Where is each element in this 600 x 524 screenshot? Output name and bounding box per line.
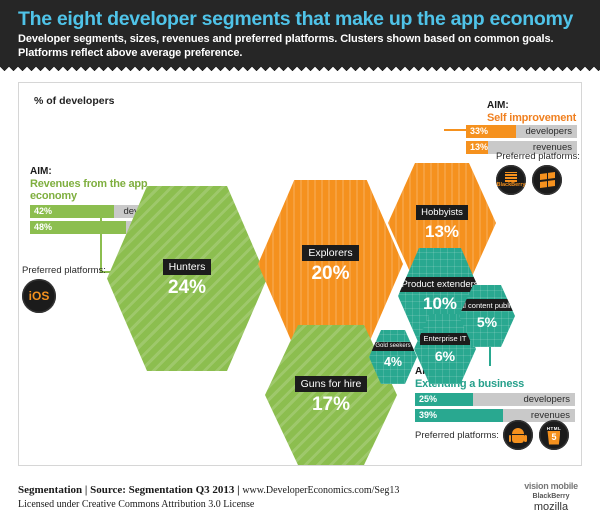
footer: Segmentation | Source: Segmentation Q3 2…: [18, 484, 538, 510]
zigzag-divider: [0, 64, 600, 73]
preferred-platforms-label: Preferred platforms:: [496, 151, 580, 162]
aim-bars-self-improvement: 33% developers 13% revenues: [466, 122, 577, 154]
header-banner: The eight developer segments that make u…: [0, 0, 600, 72]
bar-value: 25%: [419, 394, 437, 404]
footer-logos: vision mobile BlackBerry mozilla: [516, 482, 586, 513]
segment-label: Hobbyists: [416, 205, 468, 220]
footer-license: Licensed under Creative Commons Attribut…: [18, 499, 538, 510]
blackberry-icon-label: BlackBerry: [496, 183, 525, 189]
android-icon[interactable]: [503, 420, 533, 450]
segment-label: Gold seekers: [372, 342, 413, 352]
bar-label: developers: [526, 126, 572, 137]
preferred-platforms-extending-business: Preferred platforms: HTML 5: [415, 420, 569, 450]
bar-value: 42%: [34, 206, 52, 216]
platform-badge-list: BlackBerry: [496, 165, 580, 195]
segment-label: Explorers: [302, 245, 358, 261]
ios-icon[interactable]: iOS: [22, 279, 56, 313]
segment-label: Guns for hire: [295, 376, 368, 392]
segment-label: Product extenders: [396, 277, 483, 292]
connector-line-vertical: [489, 344, 491, 366]
segment-value: 10%: [423, 294, 457, 314]
footer-source-line: Segmentation | Source: Segmentation Q3 2…: [18, 484, 538, 496]
aim-block-self-improvement: AIM: Self improvement: [487, 100, 587, 124]
stat-bar-developers: 33% developers: [466, 125, 577, 138]
bar-value: 39%: [419, 410, 437, 420]
ios-icon-label: iOS: [29, 290, 50, 302]
bar-value: 33%: [470, 126, 488, 136]
segment-value: 5%: [477, 312, 497, 332]
connector-line-horizontal: [444, 129, 466, 131]
windows-icon[interactable]: [532, 165, 562, 195]
aim-kicker: AIM:: [487, 100, 587, 111]
platform-badge-list: iOS: [22, 279, 106, 313]
segment-value: 17%: [312, 395, 350, 415]
bar-value: 48%: [34, 222, 52, 232]
aim-kicker: AIM:: [30, 166, 175, 177]
blackberry-logo: BlackBerry: [516, 493, 586, 500]
segment-label: Hunters: [163, 259, 212, 275]
segment-value: 6%: [435, 346, 455, 366]
mozilla-logo: mozilla: [516, 501, 586, 513]
platform-badge-list: HTML 5: [503, 420, 569, 450]
segment-label: Enterprise IT: [420, 333, 471, 345]
visionmobile-logo: vision mobile: [516, 482, 586, 491]
preferred-platforms-revenues: Preferred platforms: iOS: [22, 258, 106, 313]
bar-value: 13%: [470, 142, 488, 152]
footer-source-text: Segmentation | Source: Segmentation Q3 2…: [18, 484, 240, 496]
footer-url[interactable]: www.DeveloperEconomics.com/Seg13: [242, 485, 399, 496]
segment-value: 4%: [384, 352, 402, 372]
page-title: The eight developer segments that make u…: [18, 8, 573, 31]
axis-label: % of developers: [34, 95, 115, 107]
preferred-platforms-label: Preferred platforms:: [415, 430, 499, 441]
stat-bar-developers: 25% developers: [415, 393, 575, 406]
segment-value: 13%: [425, 222, 459, 242]
html5-icon[interactable]: HTML 5: [539, 420, 569, 450]
segment-value: 20%: [311, 264, 349, 284]
segment-value: 24%: [168, 278, 206, 298]
blackberry-icon[interactable]: BlackBerry: [496, 165, 526, 195]
page-subtitle: Developer segments, sizes, revenues and …: [18, 33, 578, 60]
preferred-platforms-self-improvement: Preferred platforms: BlackBerry: [496, 151, 580, 195]
bar-label: developers: [524, 394, 570, 405]
preferred-platforms-label: Preferred platforms:: [22, 265, 106, 276]
